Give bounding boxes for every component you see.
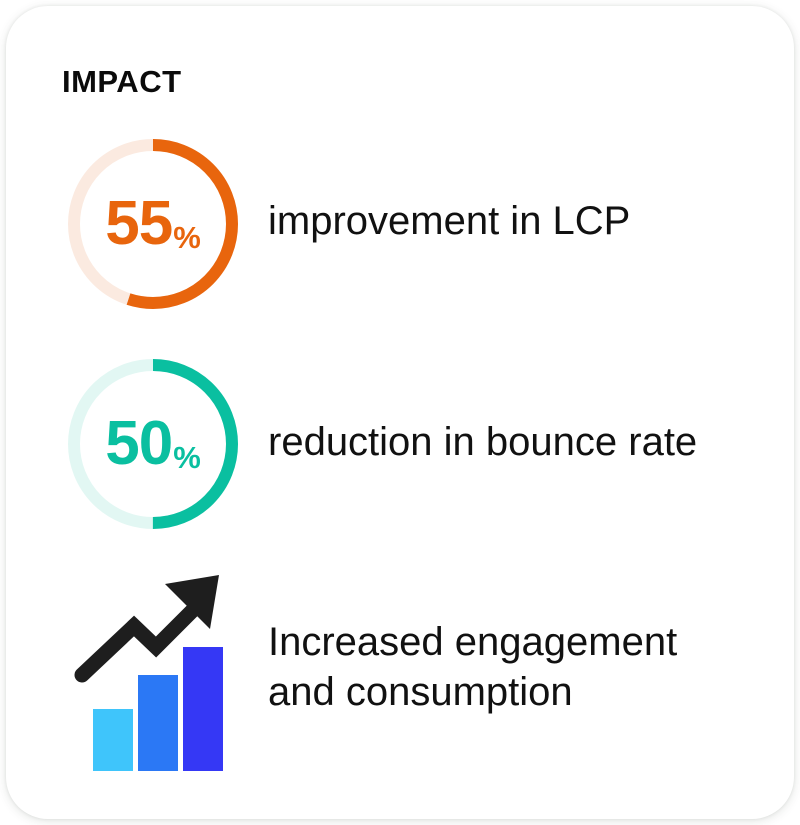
metric-label-engagement-consumption: Increased engagement and consumption: [268, 617, 677, 717]
donut-chart-bounce-rate-reduction: 50 %: [68, 359, 238, 529]
bar-3: [183, 647, 223, 771]
growth-bar-chart-icon: [68, 571, 248, 776]
bar-2: [138, 675, 178, 771]
page-title: IMPACT: [62, 66, 182, 97]
metric-label-bounce-rate-reduction: reduction in bounce rate: [268, 417, 697, 467]
metric-label-lcp-improvement: improvement in LCP: [268, 196, 630, 246]
bar-1: [93, 709, 133, 771]
impact-card: IMPACT 55 % improvement in LCP 50 %: [6, 6, 794, 819]
donut-chart-lcp-improvement: 55 %: [68, 139, 238, 309]
